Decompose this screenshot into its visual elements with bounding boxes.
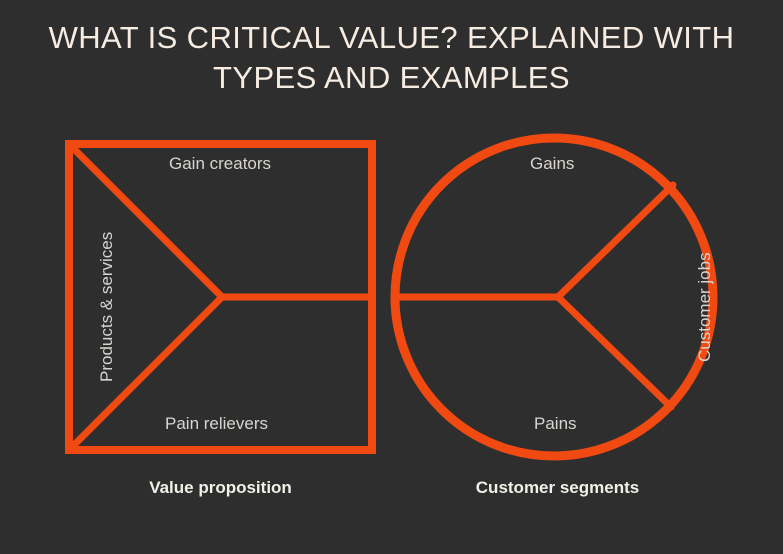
customer-segments-lower-spoke <box>558 297 671 407</box>
label-gain-creators: Gain creators <box>169 154 271 174</box>
caption-customer-segments: Customer segments <box>400 478 715 498</box>
customer-segments-upper-spoke <box>558 185 673 297</box>
label-pain-relievers: Pain relievers <box>165 414 268 434</box>
caption-value-proposition: Value proposition <box>69 478 372 498</box>
slide-canvas: WHAT IS CRITICAL VALUE? EXPLAINED WITH T… <box>0 0 783 554</box>
customer-segments-shape <box>395 138 713 456</box>
label-products-and-services: Products & services <box>97 232 117 382</box>
customer-segments-circle <box>395 138 713 456</box>
page-title: WHAT IS CRITICAL VALUE? EXPLAINED WITH T… <box>0 18 783 98</box>
label-customer-jobs: Customer jobs <box>695 252 715 362</box>
label-gains: Gains <box>530 154 574 174</box>
label-pains: Pains <box>534 414 577 434</box>
